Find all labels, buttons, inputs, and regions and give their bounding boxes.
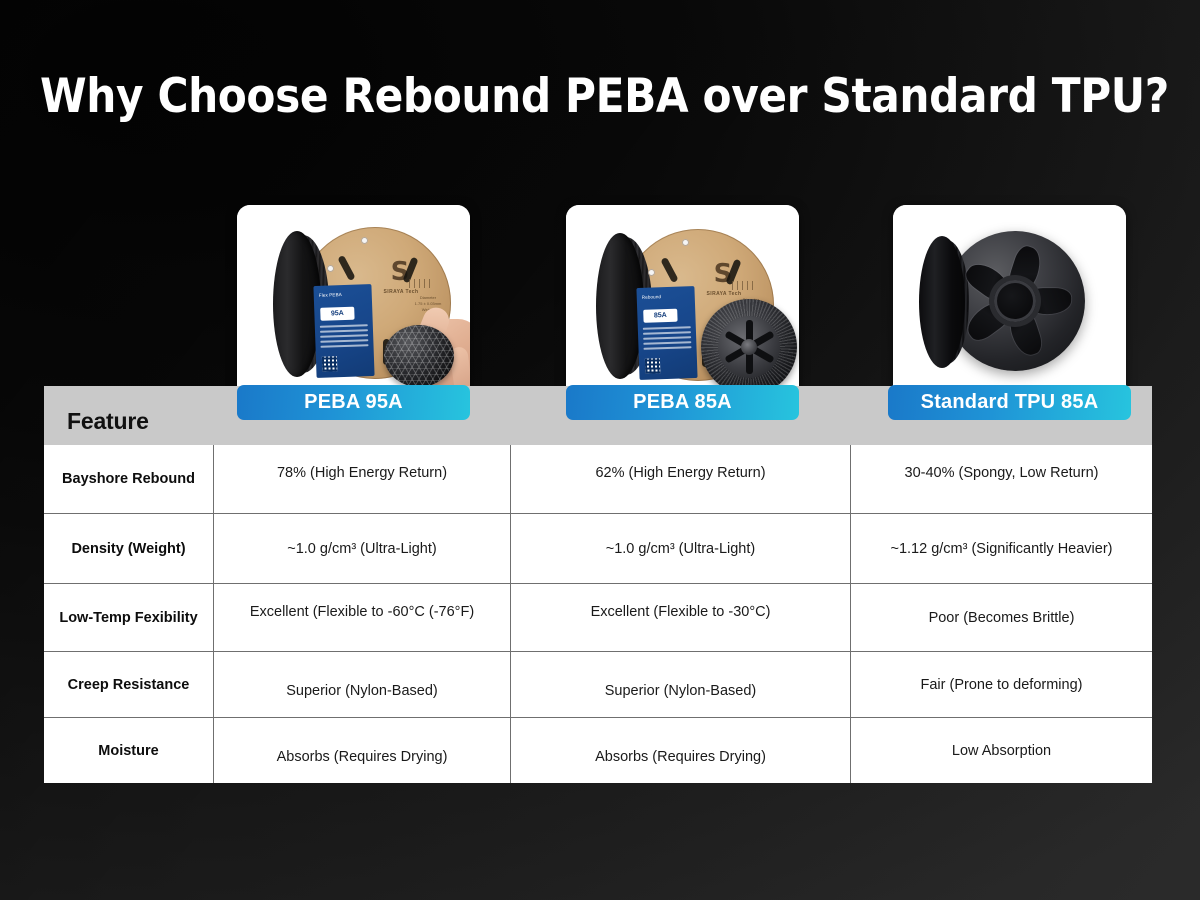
tire-hub [741, 339, 757, 355]
cell-peba-85a: Excellent (Flexible to -30°C) [591, 604, 771, 620]
cell-peba-85a: Superior (Nylon-Based) [605, 683, 757, 699]
label-spec-lines [320, 324, 369, 351]
spool-hole [361, 237, 368, 244]
row-label: Density (Weight) [44, 514, 213, 583]
cell-peba-95a: Absorbs (Requires Drying) [277, 749, 448, 765]
product-image-peba-85a: S SIRAYA Tech Diameter1.75 ± 0. [566, 205, 799, 403]
spool-hub [994, 280, 1036, 322]
spool-slot [660, 257, 678, 283]
row-label: Moisture [44, 718, 213, 783]
table-body: Bayshore Rebound 78% (High Energy Return… [44, 445, 1152, 783]
spool-product-label: Rebound 85A [636, 286, 697, 380]
cell-peba-95a: Superior (Nylon-Based) [286, 683, 438, 699]
cell-tpu-85a: Low Absorption [952, 743, 1051, 759]
spool-illustration: S SIRAYA Tech Diameter1.75 ± 0. [566, 205, 799, 403]
cell-peba-95a: 78% (High Energy Return) [277, 465, 447, 481]
cell-tpu-85a: 30-40% (Spongy, Low Return) [905, 465, 1099, 481]
product-badge-peba-85a[interactable]: PEBA 85A [566, 385, 799, 420]
product-image-standard-tpu-85a [893, 205, 1126, 403]
qr-code-icon [645, 358, 661, 374]
table-row: Low-Temp Fexibility Excellent (Flexible … [44, 583, 1152, 651]
printed-tire-icon [701, 299, 797, 395]
label-hardness-chip: 95A [320, 307, 354, 321]
cell-tpu-85a: Fair (Prone to deforming) [921, 677, 1083, 693]
lattice-ball-icon [384, 325, 454, 387]
spool-slot [337, 255, 355, 281]
table-row: Moisture Absorbs (Requires Drying) Absor… [44, 717, 1152, 783]
spool-product-label: Flex PEBA 95A [313, 284, 374, 378]
label-hardness-chip: 85A [643, 309, 677, 323]
cell-peba-95a: Excellent (Flexible to -60°C (-76°F) [250, 604, 474, 620]
product-card-standard-tpu-85a[interactable] [893, 205, 1126, 403]
cell-peba-85a: ~1.0 g/cm³ (Ultra-Light) [606, 541, 755, 557]
spool-hole [648, 269, 655, 276]
plastic-spool-icon [945, 231, 1085, 371]
cell-peba-95a: ~1.0 g/cm³ (Ultra-Light) [287, 541, 436, 557]
label-title: Rebound [642, 293, 691, 300]
spool-scale-ticks [732, 281, 758, 291]
row-label: Bayshore Rebound [44, 445, 213, 513]
cell-tpu-85a: ~1.12 g/cm³ (Significantly Heavier) [890, 541, 1112, 557]
cell-tpu-85a: Poor (Becomes Brittle) [929, 610, 1075, 626]
table-header-feature: Feature [44, 408, 213, 445]
product-card-peba-95a[interactable]: S SIRAYA Tech Diameter1.75 ± 0. [237, 205, 470, 403]
table-row: Creep Resistance Superior (Nylon-Based) … [44, 651, 1152, 717]
product-card-peba-85a[interactable]: S SIRAYA Tech Diameter1.75 ± 0. [566, 205, 799, 403]
row-label: Creep Resistance [44, 652, 213, 717]
filament-edge [919, 236, 965, 368]
product-badge-peba-95a[interactable]: PEBA 95A [237, 385, 470, 420]
product-badge-standard-tpu-85a[interactable]: Standard TPU 85A [888, 385, 1131, 420]
hand-illustration [380, 305, 470, 397]
label-title: Flex PEBA [319, 291, 368, 298]
qr-code-icon [322, 356, 338, 372]
comparison-table: Feature Bayshore Rebound 78% (High Energ… [44, 386, 1152, 783]
spool-hole [327, 265, 334, 272]
table-row: Bayshore Rebound 78% (High Energy Return… [44, 445, 1152, 513]
label-spec-lines [643, 326, 692, 353]
spool-illustration [893, 205, 1126, 403]
table-row: Density (Weight) ~1.0 g/cm³ (Ultra-Light… [44, 513, 1152, 583]
product-image-peba-95a: S SIRAYA Tech Diameter1.75 ± 0. [237, 205, 470, 403]
spool-illustration: S SIRAYA Tech Diameter1.75 ± 0. [237, 205, 470, 403]
spool-scale-ticks [409, 279, 435, 289]
row-label: Low-Temp Fexibility [44, 584, 213, 651]
cell-peba-85a: Absorbs (Requires Drying) [595, 749, 766, 765]
spool-hole [682, 239, 689, 246]
cell-peba-85a: 62% (High Energy Return) [595, 465, 765, 481]
